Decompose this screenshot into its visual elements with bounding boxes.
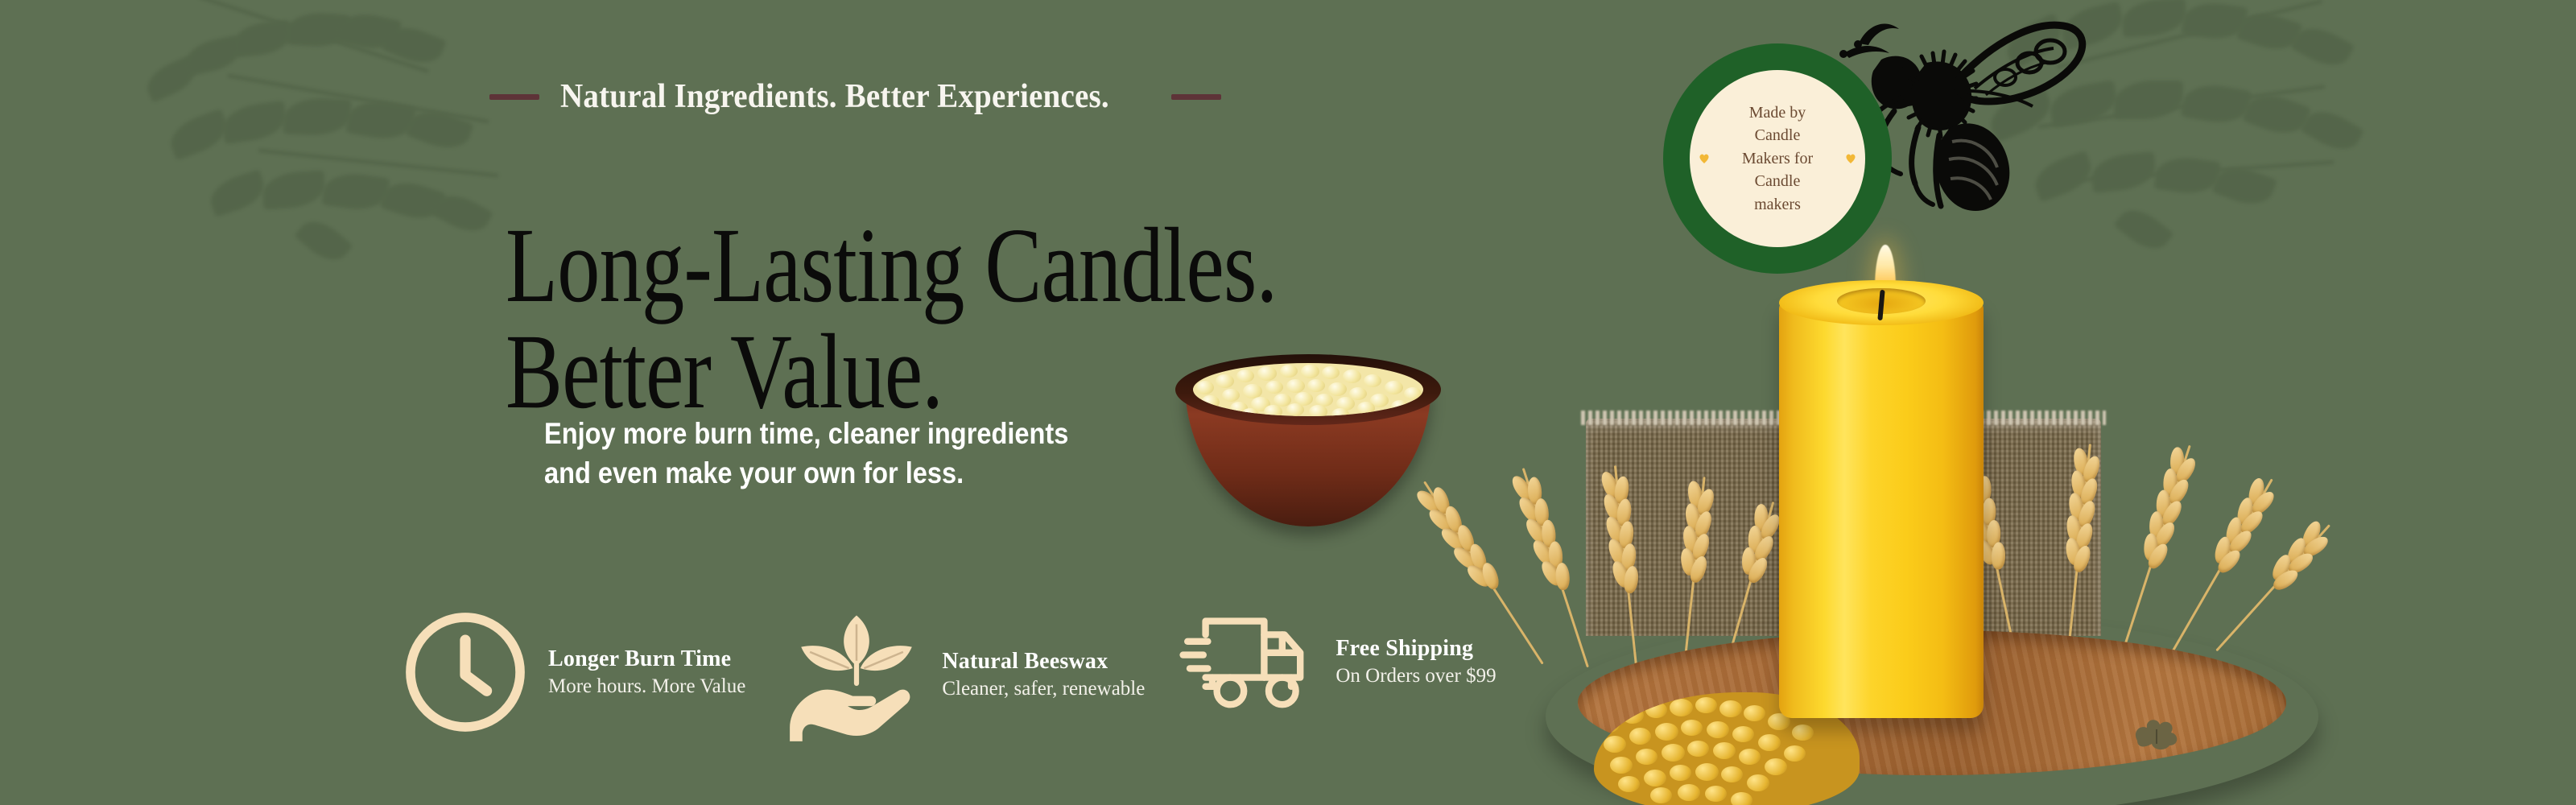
hand-plant-icon	[787, 605, 926, 744]
wax-pastille-bowl	[1175, 354, 1441, 527]
product-composition	[1183, 233, 2576, 805]
badge-line-5: makers	[1742, 193, 1813, 216]
heart-icon-left	[1698, 152, 1711, 165]
beeswax-pillar-candle	[1779, 272, 1984, 727]
heart-icon-right	[1844, 152, 1857, 165]
candle-body	[1779, 299, 1984, 718]
headline-line-1: Long-Lasting Candles.	[506, 213, 1277, 319]
feature-subtitle: Cleaner, safer, renewable	[942, 677, 1145, 701]
dried-pod	[2129, 716, 2186, 752]
badge-text: Made by Candle Makers for Candle makers	[1721, 101, 1834, 216]
feature-natural-beeswax: Natural Beeswax Cleaner, safer, renewabl…	[787, 605, 1145, 744]
badge-line-3: Makers for	[1742, 147, 1813, 170]
feature-title: Natural Beeswax	[942, 648, 1145, 675]
feature-title: Longer Burn Time	[548, 646, 745, 672]
eyebrow-text: Natural Ingredients. Better Experiences.	[560, 77, 1109, 116]
eyebrow-tagline: Natural Ingredients. Better Experiences.	[489, 77, 1221, 116]
eyebrow-rule-right	[1171, 94, 1221, 100]
feature-longer-burn-time: Longer Burn Time More hours. More Value	[398, 605, 745, 739]
promo-banner: Natural Ingredients. Better Experiences.…	[0, 0, 2576, 805]
made-by-candle-makers-badge: Made by Candle Makers for Candle makers	[1663, 43, 1892, 274]
feature-subtitle: More hours. More Value	[548, 675, 745, 699]
badge-line-1: Made by	[1742, 101, 1813, 124]
badge-line-2: Candle	[1742, 124, 1813, 147]
subheadline: Enjoy more burn time, cleaner ingredient…	[544, 414, 1068, 493]
bowl-wax-pastilles	[1193, 363, 1423, 416]
headline-line-2: Better Value.	[506, 319, 1277, 425]
subheadline-line-2: and even make your own for less.	[544, 453, 1068, 493]
eyebrow-rule-left	[489, 94, 539, 100]
badge-line-4: Candle	[1742, 170, 1813, 192]
foliage-left-decoration	[97, 0, 547, 282]
clock-icon	[398, 605, 532, 739]
subheadline-line-1: Enjoy more burn time, cleaner ingredient…	[544, 414, 1068, 453]
badge-inner-circle: Made by Candle Makers for Candle makers	[1690, 70, 1865, 247]
